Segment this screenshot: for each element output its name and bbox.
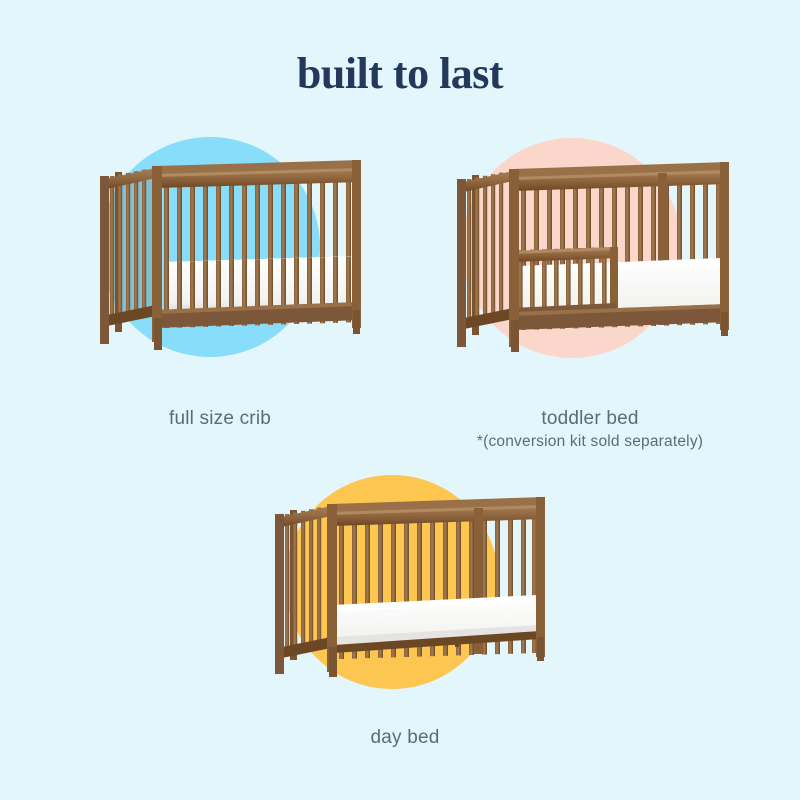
- panel-toddler-bed: toddler bed *(conversion kit sold separa…: [420, 120, 760, 440]
- caption-day-bed: day bed: [240, 727, 570, 749]
- caption-label: full size crib: [169, 408, 271, 429]
- panel-day-bed: day bed: [240, 455, 570, 765]
- infographic-root: built to last: [0, 0, 800, 800]
- panel-full-size-crib: full size crib: [60, 120, 380, 440]
- caption-toddler-bed: toddler bed *(conversion kit sold separa…: [420, 408, 760, 451]
- crib-illustration: [60, 120, 380, 370]
- caption-sublabel: *(conversion kit sold separately): [420, 433, 760, 451]
- page-title: built to last: [0, 48, 800, 99]
- day-bed-illustration: [240, 455, 570, 695]
- caption-label: day bed: [370, 727, 439, 748]
- caption-full-size-crib: full size crib: [60, 408, 380, 430]
- caption-label: toddler bed: [541, 408, 638, 429]
- toddler-bed-illustration: [420, 120, 760, 370]
